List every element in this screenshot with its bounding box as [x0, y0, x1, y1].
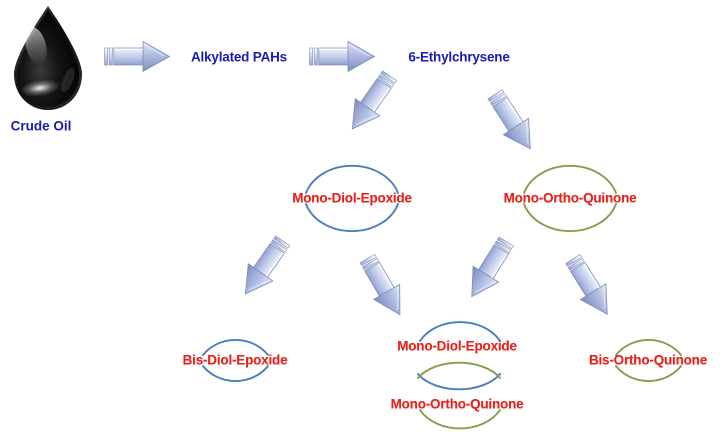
- arrow-mono-diol-epoxide-to-bis-diol-epoxide: [233, 232, 295, 302]
- node-label-bis-ortho-quinone: Bis-Ortho-Quinone: [589, 353, 707, 368]
- node-label-crude-oil: Crude Oil: [11, 119, 72, 134]
- arrow-mono-ortho-quinone-to-bis-ortho-quinone: [560, 251, 620, 322]
- node-label-bis-diol-epoxide: Bis-Diol-Epoxide: [183, 353, 288, 368]
- node-label-6-ethylchrysene: 6-Ethylchrysene: [408, 50, 509, 65]
- arrow-ethylchrysene-to-mono-diol-epoxide: [340, 67, 402, 137]
- arrow-ethylchrysene-to-mono-ortho-quinone: [482, 86, 543, 157]
- node-label-mono-ortho-quinone-bottom: Mono-Ortho-Quinone: [391, 397, 524, 412]
- oil-drop-icon: [0, 2, 96, 114]
- diagram-canvas: Crude Oil Alkylated PAHs 6-Ethylchrysene…: [0, 0, 728, 445]
- crude-oil-droplet: [0, 2, 96, 119]
- arrow-alkylated-to-ethylchrysene: [310, 42, 375, 72]
- node-label-mono-diol-epoxide-mid: Mono-Diol-Epoxide: [292, 191, 412, 206]
- node-label-mono-diol-epoxide-bottom: Mono-Diol-Epoxide: [397, 339, 517, 354]
- node-label-mono-ortho-quinone-mid: Mono-Ortho-Quinone: [504, 191, 637, 206]
- arrow-mono-diol-epoxide-to-center: [354, 251, 412, 322]
- pathway-arrows: [0, 0, 728, 445]
- arrow-crude-to-alkylated: [105, 42, 170, 72]
- arrow-mono-ortho-quinone-to-center: [459, 234, 519, 305]
- node-label-alkylated-pahs: Alkylated PAHs: [191, 50, 287, 65]
